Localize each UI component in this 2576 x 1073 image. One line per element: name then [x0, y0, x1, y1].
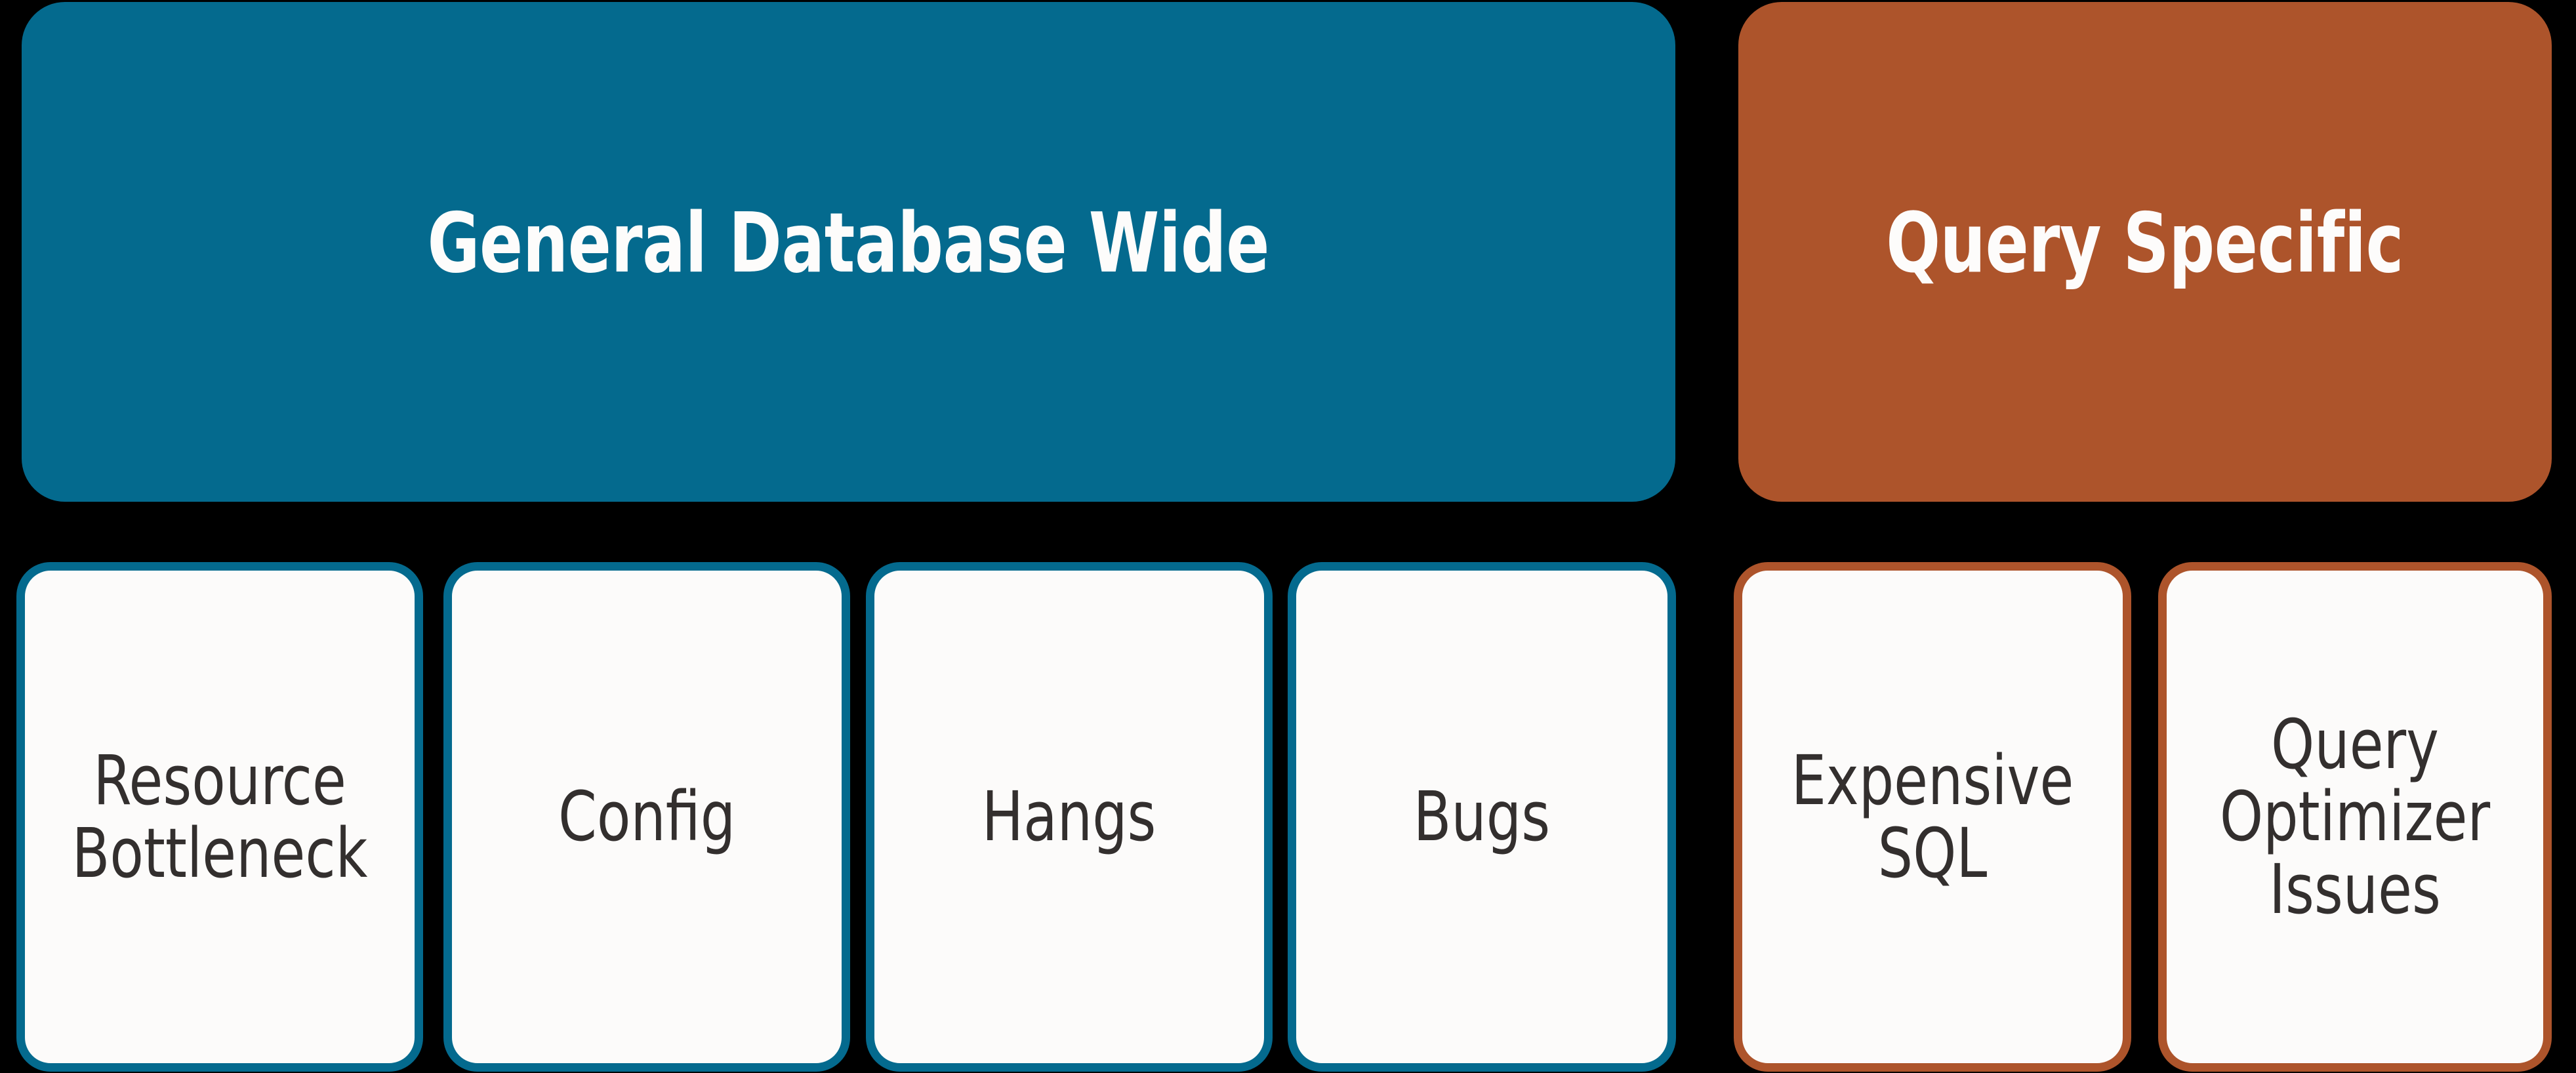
card-query-optimizer-issues[interactable]: Query Optimizer Issues: [2158, 562, 2552, 1072]
card-bugs[interactable]: Bugs: [1288, 562, 1676, 1072]
card-label: Bugs: [1414, 780, 1551, 853]
card-expensive-sql[interactable]: Expensive SQL: [1734, 562, 2131, 1072]
card-label: Query Optimizer Issues: [2194, 708, 2516, 925]
card-label: Config: [558, 780, 735, 853]
category-banner-general-database-wide[interactable]: General Database Wide: [22, 2, 1675, 502]
category-banner-label: Query Specific: [1887, 202, 2404, 285]
diagram-canvas: General Database Wide Query Specific Res…: [0, 0, 2576, 1073]
card-hangs[interactable]: Hangs: [866, 562, 1273, 1072]
category-banner-query-specific[interactable]: Query Specific: [1738, 2, 2552, 502]
card-config[interactable]: Config: [443, 562, 850, 1072]
card-label: Resource Bottleneck: [52, 744, 386, 889]
card-label: Hangs: [982, 780, 1156, 853]
card-label: Expensive SQL: [1770, 744, 2096, 889]
card-resource-bottleneck[interactable]: Resource Bottleneck: [16, 562, 423, 1072]
category-banner-label: General Database Wide: [428, 202, 1269, 285]
